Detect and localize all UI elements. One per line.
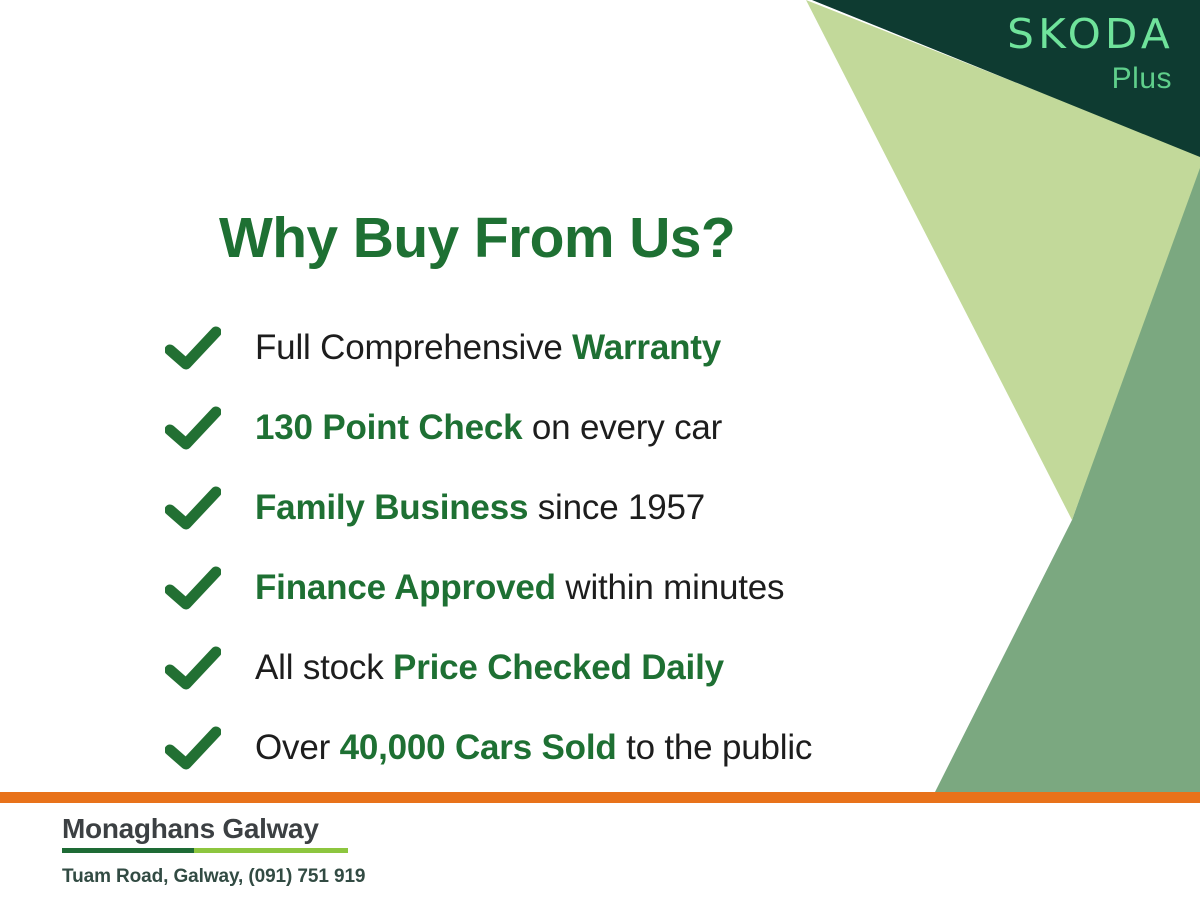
benefit-plain: within minutes <box>556 568 784 607</box>
check-icon <box>165 566 221 610</box>
benefit-text: Finance Approved within minutes <box>255 569 784 608</box>
benefit-text: Full Comprehensive Warranty <box>255 329 721 368</box>
orange-divider <box>0 792 1200 803</box>
benefit-item: Full Comprehensive Warranty <box>165 308 995 388</box>
page-title: Why Buy From Us? <box>219 205 735 271</box>
poster-canvas: SKODA Plus Why Buy From Us? Full Compreh… <box>0 0 1200 901</box>
benefits-list: Full Comprehensive Warranty130 Point Che… <box>165 308 995 788</box>
dealer-name-underline <box>62 848 348 853</box>
benefit-highlight: Finance Approved <box>255 568 556 607</box>
underline-segment-light <box>194 848 348 853</box>
benefit-item: Family Business since 1957 <box>165 468 995 548</box>
check-icon <box>165 406 221 450</box>
check-icon <box>165 486 221 530</box>
check-icon <box>165 726 221 770</box>
skoda-plus-logo: SKODA Plus <box>1012 14 1174 94</box>
benefit-highlight: Family Business <box>255 488 528 527</box>
skoda-plus-label: Plus <box>1012 64 1172 94</box>
benefit-text: All stock Price Checked Daily <box>255 649 724 688</box>
check-icon <box>165 646 221 690</box>
skoda-wordmark: SKODA <box>1007 14 1174 55</box>
footer: Monaghans Galway Tuam Road, Galway, (091… <box>62 812 365 888</box>
benefit-plain: to the public <box>617 728 813 767</box>
benefit-item: Finance Approved within minutes <box>165 548 995 628</box>
benefit-text: Over 40,000 Cars Sold to the public <box>255 729 812 768</box>
benefit-item: Over 40,000 Cars Sold to the public <box>165 708 995 788</box>
benefit-text: Family Business since 1957 <box>255 489 705 528</box>
benefit-plain: Full Comprehensive <box>255 328 572 367</box>
benefit-plain: Over <box>255 728 340 767</box>
benefit-plain: All stock <box>255 648 393 687</box>
benefit-highlight: Price Checked Daily <box>393 648 724 687</box>
benefit-item: 130 Point Check on every car <box>165 388 995 468</box>
benefit-highlight: Warranty <box>572 328 721 367</box>
benefit-highlight: 130 Point Check <box>255 408 522 447</box>
benefit-text: 130 Point Check on every car <box>255 409 722 448</box>
benefit-item: All stock Price Checked Daily <box>165 628 995 708</box>
dealer-address: Tuam Road, Galway, (091) 751 919 <box>62 866 365 888</box>
dealer-name: Monaghans Galway <box>62 812 365 845</box>
benefit-plain: on every car <box>522 408 722 447</box>
benefit-plain: since 1957 <box>528 488 705 527</box>
benefit-highlight: 40,000 Cars Sold <box>340 728 617 767</box>
underline-segment-dark <box>62 848 194 853</box>
check-icon <box>165 326 221 370</box>
